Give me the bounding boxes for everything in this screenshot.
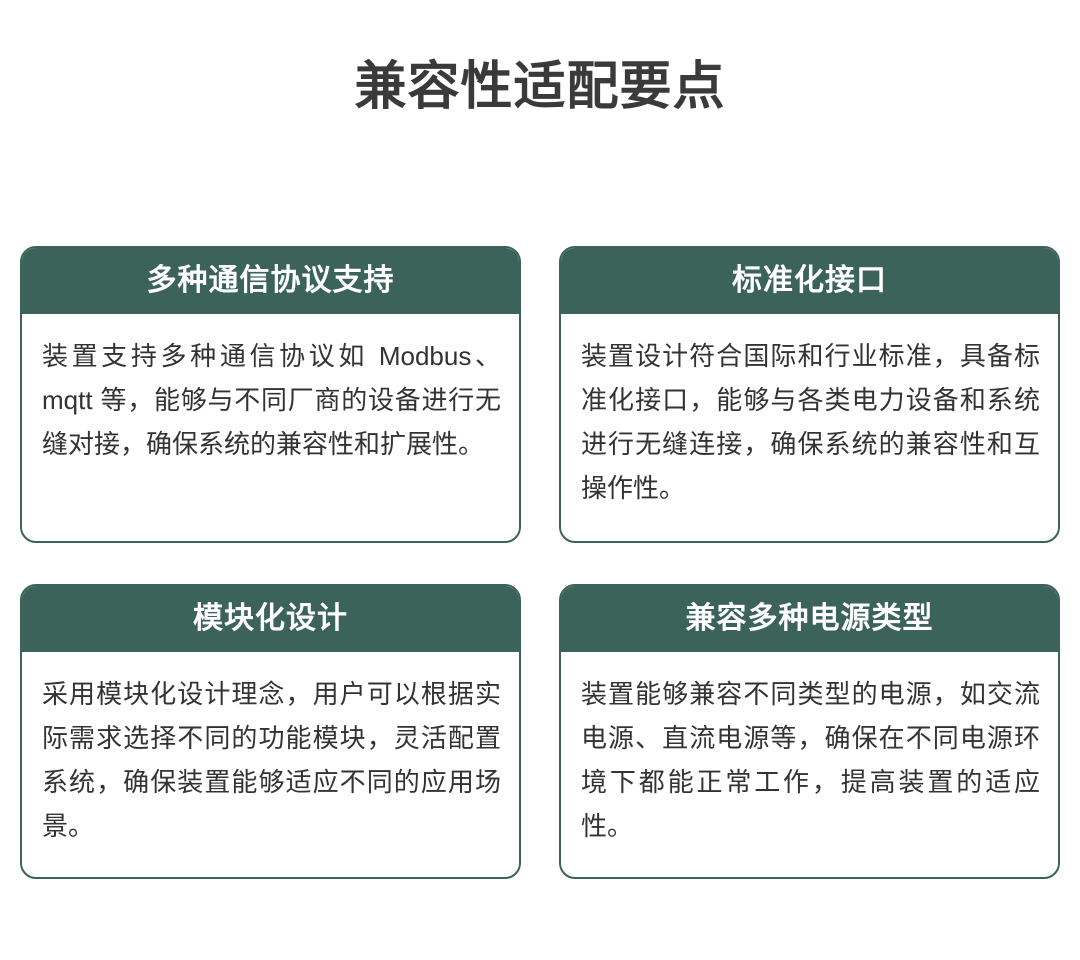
- feature-card-header: 标准化接口: [561, 248, 1058, 314]
- feature-card-standard-interface: 标准化接口 装置设计符合国际和行业标准，具备标准化接口，能够与各类电力设备和系统…: [559, 246, 1060, 543]
- page-title: 兼容性适配要点: [0, 0, 1080, 118]
- feature-card-header: 模块化设计: [22, 586, 519, 652]
- feature-card-power-types: 兼容多种电源类型 装置能够兼容不同类型的电源，如交流电源、直流电源等，确保在不同…: [559, 584, 1060, 879]
- feature-card-modular-design: 模块化设计 采用模块化设计理念，用户可以根据实际需求选择不同的功能模块，灵活配置…: [20, 584, 521, 879]
- feature-card-body: 装置设计符合国际和行业标准，具备标准化接口，能够与各类电力设备和系统进行无缝连接…: [561, 314, 1058, 541]
- feature-card-header: 多种通信协议支持: [22, 248, 519, 314]
- compatibility-points-page: 兼容性适配要点 多种通信协议支持 装置支持多种通信协议如 Modbus、mqtt…: [0, 0, 1080, 960]
- feature-card-grid: 多种通信协议支持 装置支持多种通信协议如 Modbus、mqtt 等，能够与不同…: [20, 246, 1060, 879]
- feature-card-body: 采用模块化设计理念，用户可以根据实际需求选择不同的功能模块，灵活配置系统，确保装…: [22, 652, 519, 877]
- feature-card-body: 装置支持多种通信协议如 Modbus、mqtt 等，能够与不同厂商的设备进行无缝…: [22, 314, 519, 541]
- feature-card-header: 兼容多种电源类型: [561, 586, 1058, 652]
- feature-card-multi-protocol: 多种通信协议支持 装置支持多种通信协议如 Modbus、mqtt 等，能够与不同…: [20, 246, 521, 543]
- feature-card-body: 装置能够兼容不同类型的电源，如交流电源、直流电源等，确保在不同电源环境下都能正常…: [561, 652, 1058, 877]
